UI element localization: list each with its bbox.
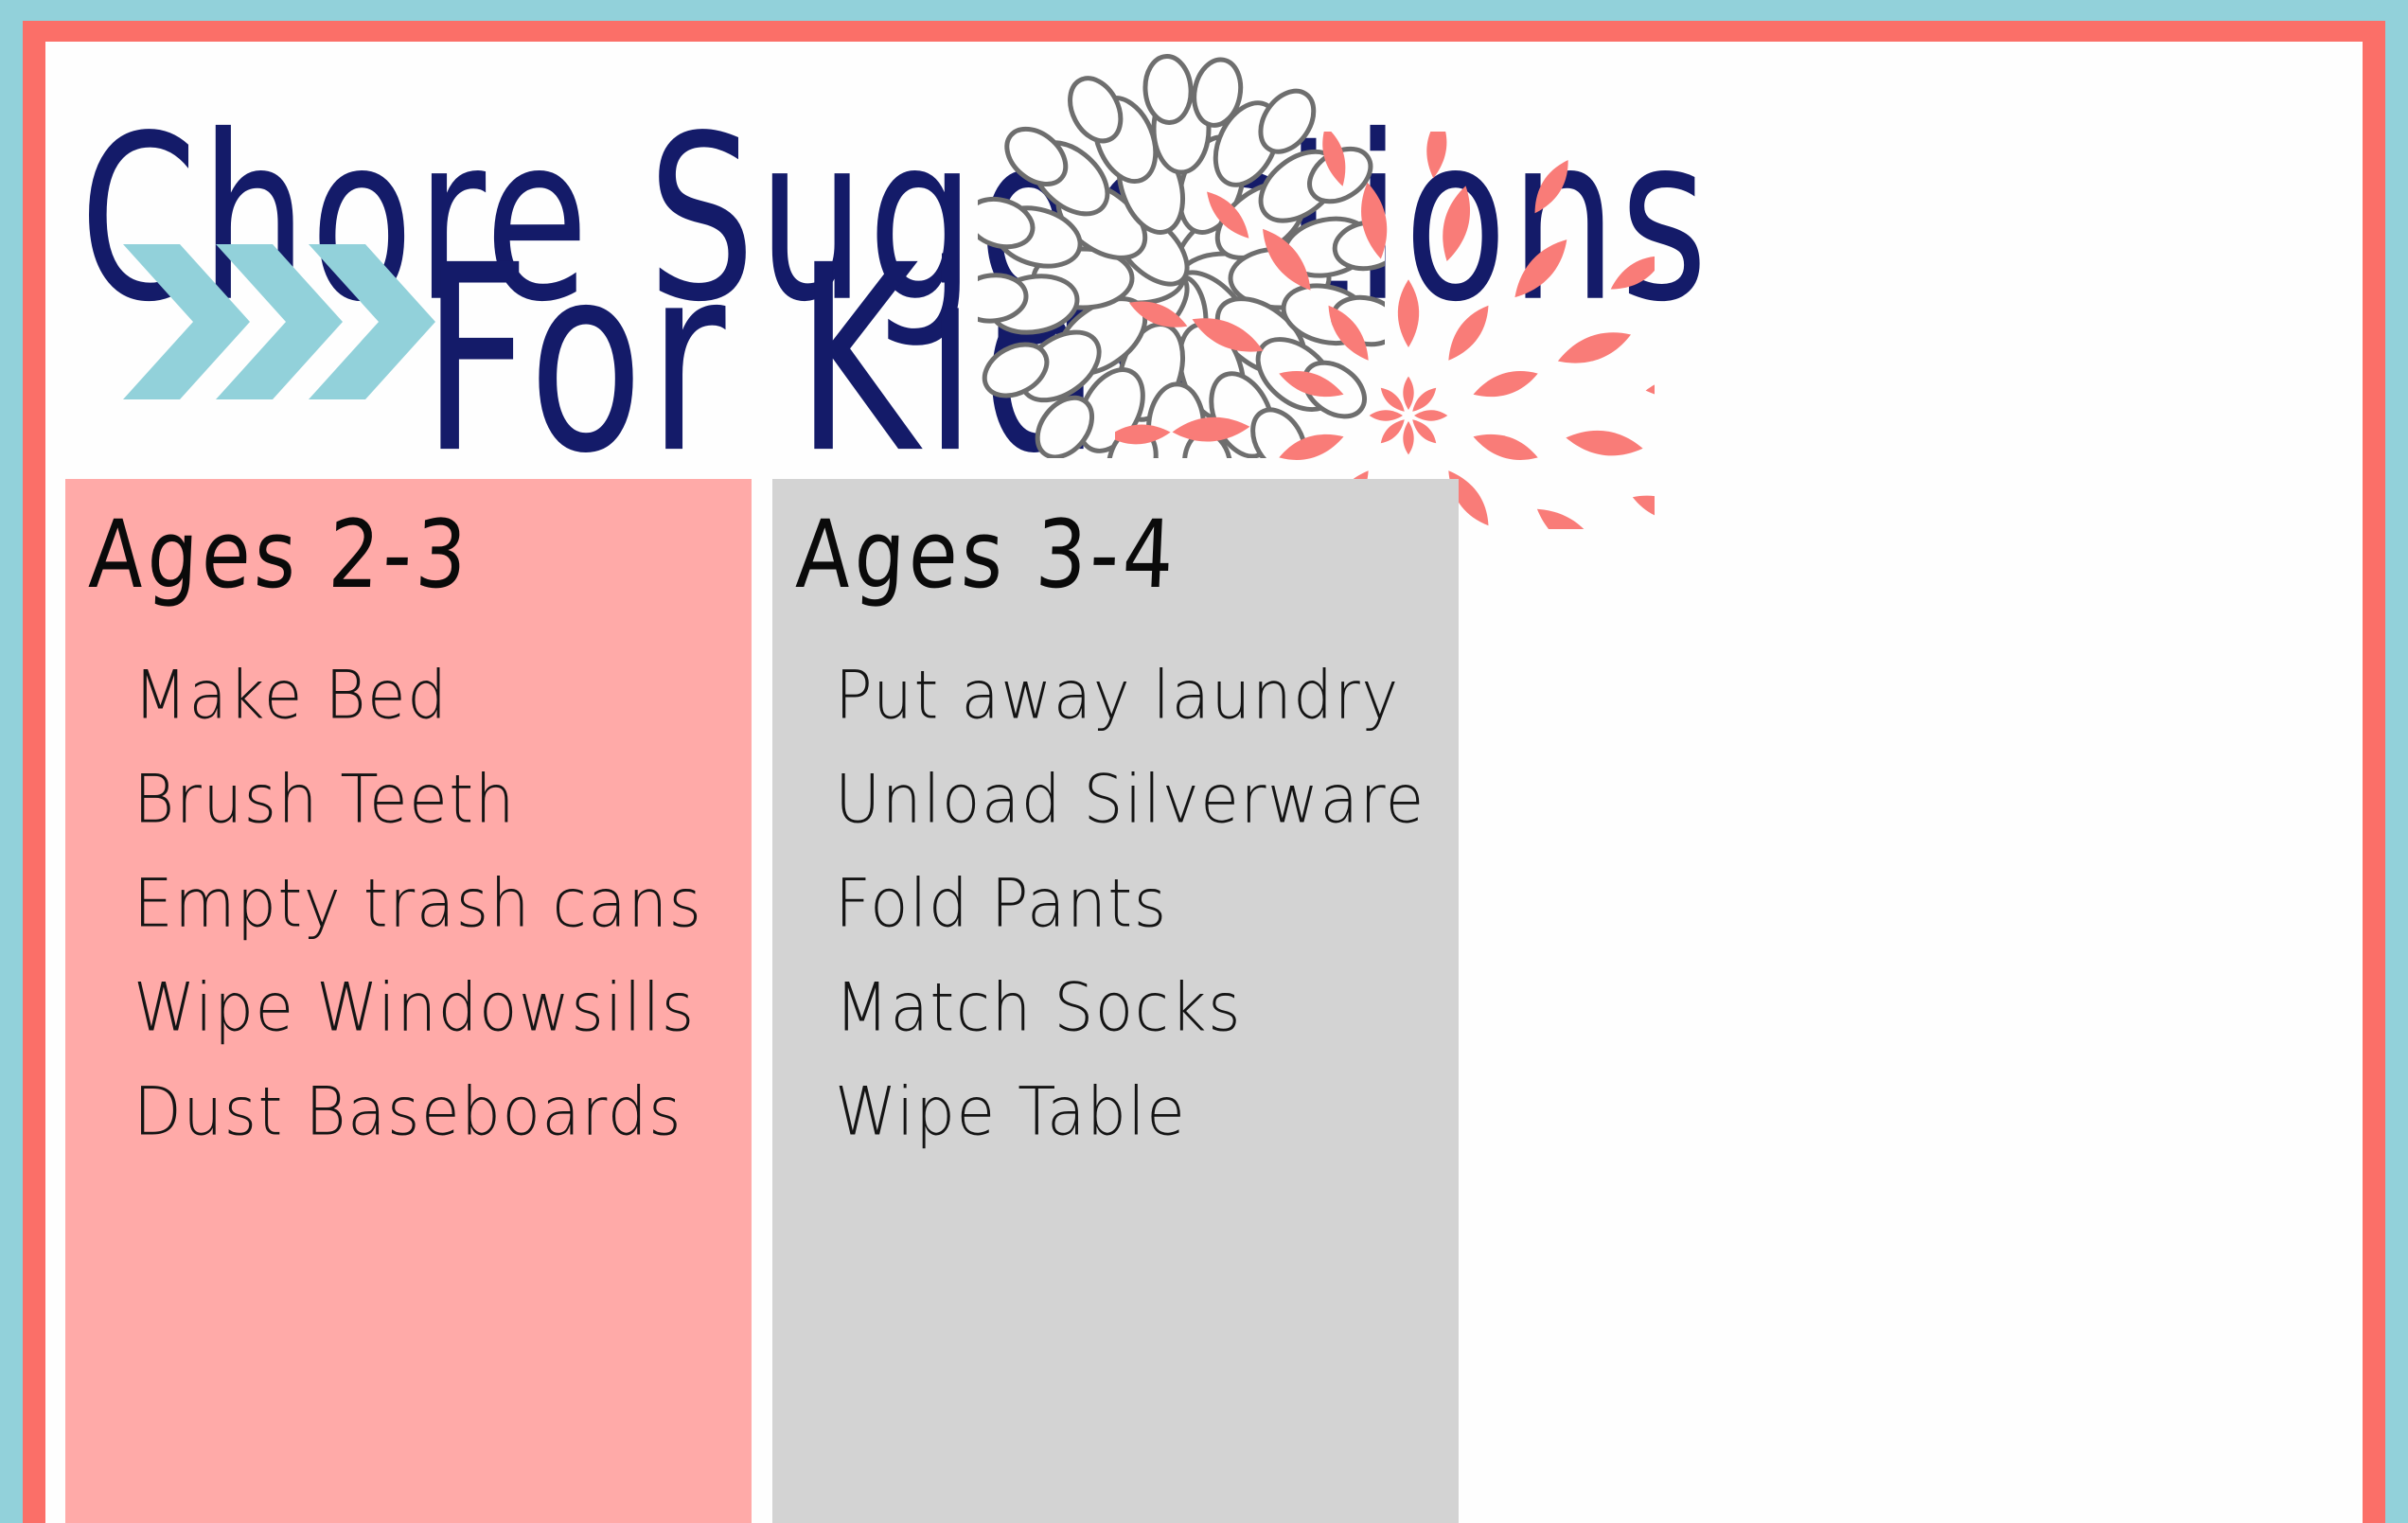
list-item: Wipe Windowsills <box>133 952 746 1064</box>
list-item: Match Socks <box>835 952 1453 1064</box>
list-item: Fold Pants <box>835 848 1453 960</box>
list-item: Wipe Table <box>835 1056 1453 1168</box>
poster-inner-coral-border: Chore Suggestions For Kids <box>23 21 2385 1523</box>
chore-list-ages-2-3: Make Bed Brush Teeth Empty trash cans Wi… <box>133 644 746 1164</box>
list-item: Empty trash cans <box>133 848 746 960</box>
poster-outer-teal-border: Chore Suggestions For Kids <box>0 0 2408 1523</box>
panel-heading-ages-2-3: Ages 2-3 <box>87 500 472 610</box>
chore-panels-container: Ages 2-3 Make Bed Brush Teeth Empty tras… <box>45 479 2363 1523</box>
panel-heading-ages-3-4: Ages 3-4 <box>794 500 1179 610</box>
list-item: Dust Baseboards <box>133 1056 746 1168</box>
chore-panel-ages-2-3: Ages 2-3 Make Bed Brush Teeth Empty tras… <box>65 479 752 1523</box>
chore-panel-ages-3-4: Ages 3-4 Put away laundry Unload Silverw… <box>772 479 1459 1523</box>
list-item: Make Bed <box>133 640 746 752</box>
chore-list-ages-3-4: Put away laundry Unload Silverware Fold … <box>835 644 1453 1164</box>
list-item: Put away laundry <box>835 640 1453 752</box>
poster-content-area: Chore Suggestions For Kids <box>45 42 2363 1523</box>
list-item: Brush Teeth <box>133 744 746 856</box>
list-item: Unload Silverware <box>835 744 1453 856</box>
chevron-arrows-icon <box>121 242 462 403</box>
coral-petal-burst-flower-icon <box>1115 132 1655 529</box>
